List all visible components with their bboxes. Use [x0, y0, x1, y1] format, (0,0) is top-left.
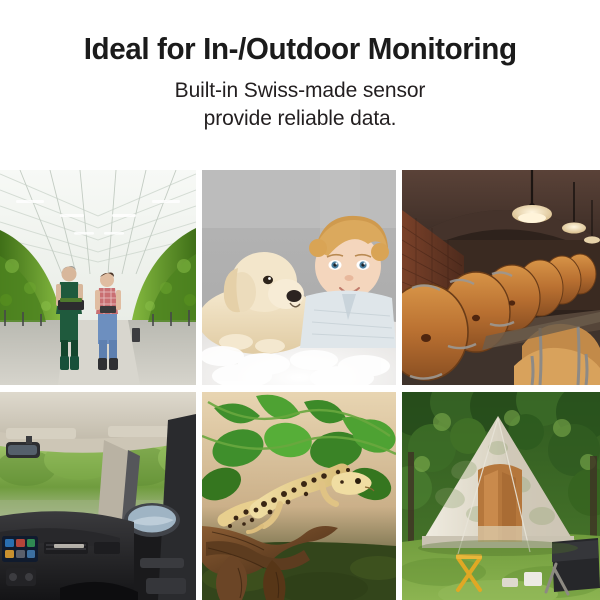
page-subtitle-line-2: provide reliable data. — [175, 105, 426, 133]
page-subtitle: Built-in Swiss-made sensor provide relia… — [175, 77, 426, 132]
photo-camping-tent — [402, 392, 600, 600]
header: Ideal for In-/Outdoor Monitoring Built-i… — [0, 0, 600, 170]
photo-car-interior — [0, 392, 196, 600]
image-grid — [0, 170, 600, 600]
promo-banner: Ideal for In-/Outdoor Monitoring Built-i… — [0, 0, 600, 600]
grid-cell-gecko-terrarium — [202, 392, 396, 600]
grid-gutter-horizontal — [0, 385, 600, 392]
photo-greenhouse — [0, 170, 196, 385]
grid-cell-car-interior — [0, 392, 196, 600]
grid-cell-greenhouse — [0, 170, 196, 385]
photo-gecko-terrarium — [202, 392, 396, 600]
page-subtitle-line-1: Built-in Swiss-made sensor — [175, 77, 426, 105]
grid-cell-wine-cellar — [402, 170, 600, 385]
photo-wine-cellar — [402, 170, 600, 385]
grid-cell-camping-tent — [402, 392, 600, 600]
page-title: Ideal for In-/Outdoor Monitoring — [84, 30, 517, 68]
photo-baby-puppy — [202, 170, 396, 385]
grid-cell-baby-puppy — [202, 170, 396, 385]
